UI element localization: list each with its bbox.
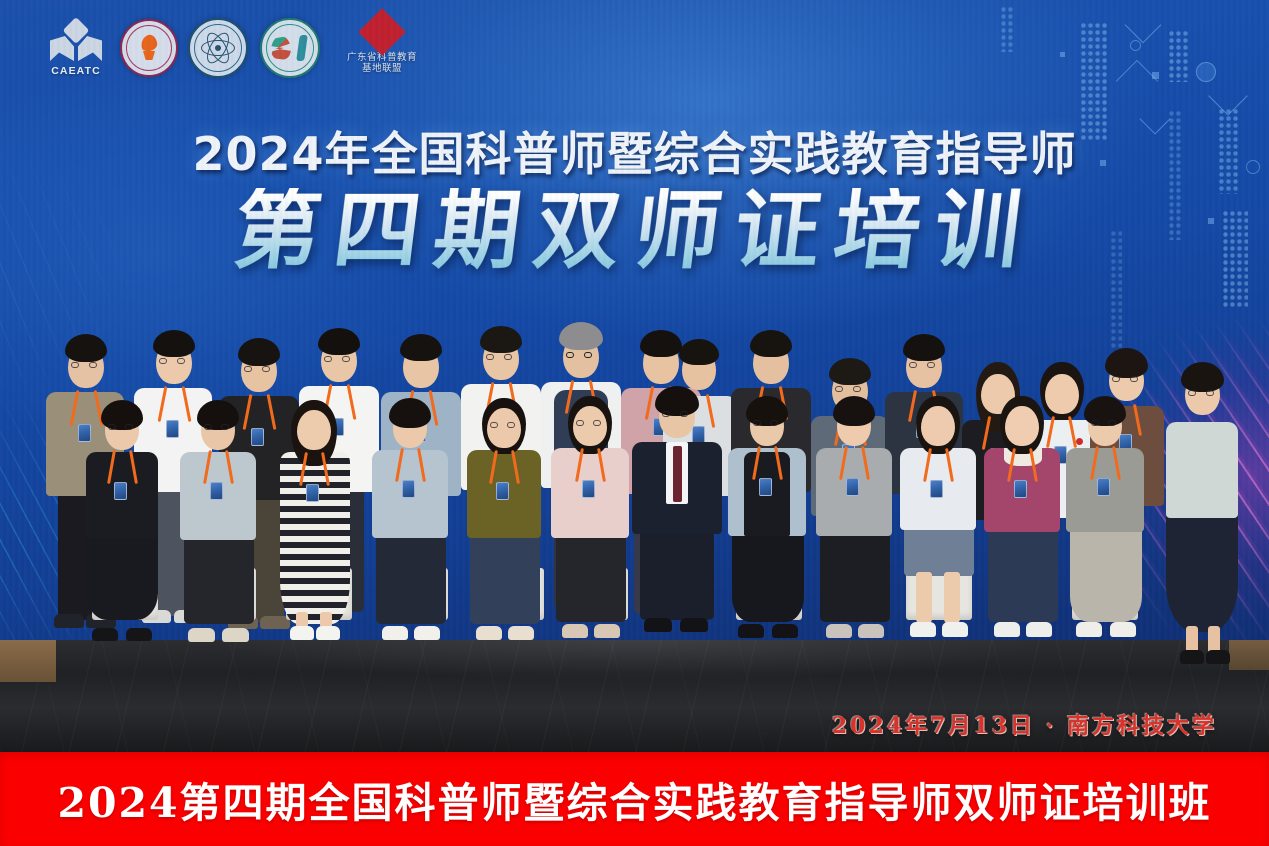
dot-column-b xyxy=(1168,30,1188,82)
torch-icon xyxy=(139,35,159,61)
face xyxy=(921,406,955,446)
atom-seal-icon xyxy=(188,18,248,78)
shoe xyxy=(994,622,1020,637)
banner-title: 2024第四期全国科普师暨综合实践教育指导师双师证培训班 xyxy=(57,769,1211,829)
chevron-down-icon-a xyxy=(1125,7,1162,44)
ring-icon-a xyxy=(1196,62,1216,82)
chevron-up-icon-a xyxy=(1116,60,1158,102)
shoe xyxy=(858,624,884,638)
atom-icon xyxy=(201,31,235,65)
shoe xyxy=(414,626,440,640)
glasses-icon xyxy=(724,396,812,650)
glasses-icon xyxy=(548,396,634,650)
hair xyxy=(400,334,442,361)
face xyxy=(1005,406,1039,446)
hair xyxy=(389,398,431,428)
glasses-icon xyxy=(1062,396,1150,650)
person-front-7-center xyxy=(630,388,724,650)
shoe xyxy=(290,626,314,640)
torso xyxy=(372,450,448,538)
shoe xyxy=(942,622,968,637)
skirt xyxy=(904,524,974,576)
person-front-1 xyxy=(80,400,166,650)
hair xyxy=(679,339,719,365)
person-front-6 xyxy=(548,396,634,650)
main-title: 2024年全国科普师暨综合实践教育指导师 xyxy=(0,118,1269,184)
si-seal-icon xyxy=(260,18,320,78)
legs xyxy=(916,572,932,624)
date-location-text: 2024年7月13日 · 南方科技大学 xyxy=(832,708,1217,740)
shoe xyxy=(826,624,852,638)
hair xyxy=(833,396,875,426)
legs xyxy=(944,572,960,624)
person-front-8 xyxy=(724,396,812,650)
sustech-seal-icon xyxy=(120,19,178,77)
shoe xyxy=(382,626,408,640)
legs xyxy=(376,530,446,624)
glasses-icon xyxy=(1158,342,1250,672)
red-banner: 2024第四期全国科普师暨综合实践教育指导师双师证培训班 xyxy=(0,752,1269,846)
person-front-10 xyxy=(896,396,982,650)
ring-icon-b xyxy=(1130,40,1141,51)
calligraphy-subtitle: 第四期双师证培训 xyxy=(0,188,1269,274)
guangdong-alliance-label-line2: 基地联盟 xyxy=(347,63,417,74)
sustech-seal-logo xyxy=(120,19,182,81)
dot-column-g xyxy=(1000,6,1014,52)
guangdong-alliance-logo: 广东省科普教育 基地联盟 xyxy=(334,14,430,86)
glasses-icon xyxy=(176,400,262,650)
person-front-2 xyxy=(176,400,262,650)
si-monogram-icon xyxy=(270,34,310,62)
torso xyxy=(900,448,976,530)
person-front-3 xyxy=(272,400,358,650)
shoe xyxy=(1026,622,1052,637)
person-front-11 xyxy=(980,396,1066,650)
shoe xyxy=(316,626,340,640)
glasses-icon xyxy=(462,398,548,650)
person-front-5 xyxy=(462,398,548,650)
person-front-9 xyxy=(812,396,898,650)
book-diamond-icon xyxy=(50,23,102,63)
chevron-down-icon-b xyxy=(1208,76,1248,116)
person-back-16 xyxy=(1158,342,1250,672)
poster-stage: CAEATC xyxy=(0,0,1269,846)
square-dot-d xyxy=(1060,52,1065,57)
face xyxy=(297,410,331,450)
legs xyxy=(988,526,1058,622)
square-dot-a xyxy=(1152,72,1159,79)
caeatc-logo-label: CAEATC xyxy=(51,65,101,77)
person-front-12 xyxy=(1062,396,1150,650)
person-front-4 xyxy=(368,398,454,650)
logo-row: CAEATC xyxy=(36,14,430,86)
hair xyxy=(750,330,792,357)
shoe xyxy=(910,622,936,637)
caeatc-logo: CAEATC xyxy=(36,16,116,84)
group-photo-people xyxy=(0,300,1269,670)
dress xyxy=(280,452,350,624)
glasses-icon xyxy=(80,400,166,650)
torso xyxy=(816,448,892,536)
legs xyxy=(820,528,890,622)
red-diamond-maze-icon xyxy=(358,8,406,56)
glasses-icon xyxy=(630,388,724,650)
si-seal-logo xyxy=(260,18,324,82)
atom-seal-logo xyxy=(188,18,252,82)
